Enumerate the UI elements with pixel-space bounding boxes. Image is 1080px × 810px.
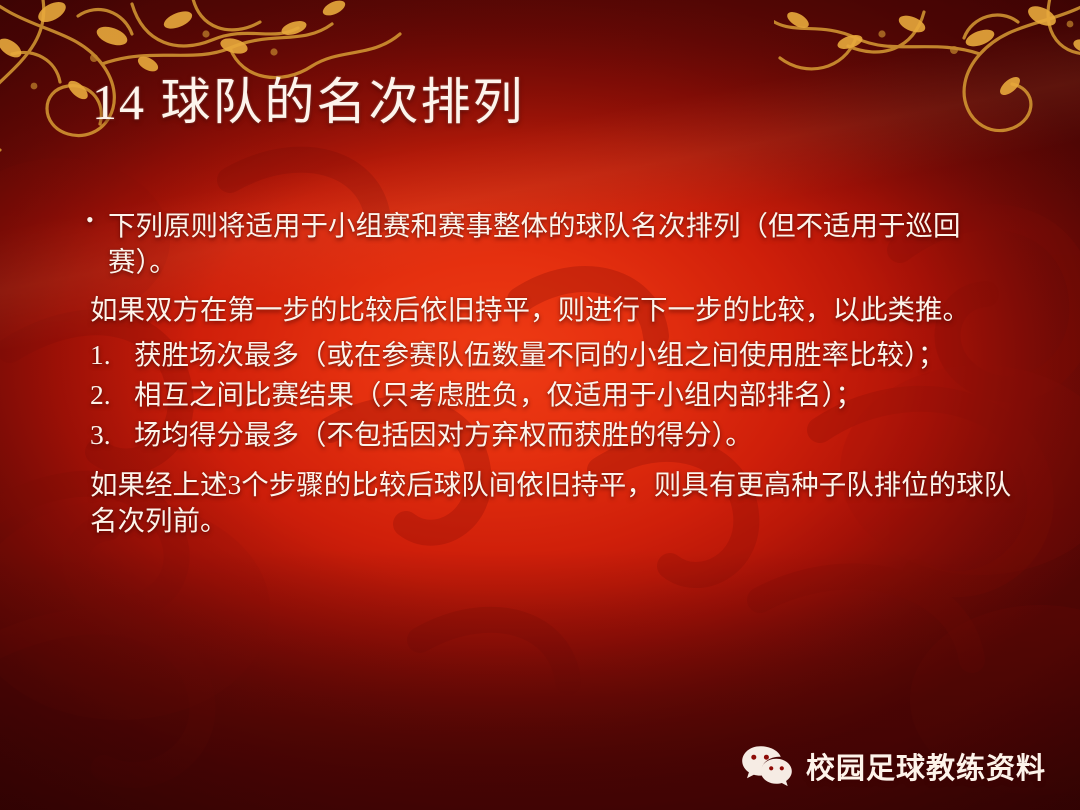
numbered-item-marker: 3. [86, 417, 134, 453]
numbered-item: 1. 获胜场次最多（或在参赛队伍数量不同的小组之间使用胜率比较）； [86, 337, 1012, 373]
paragraph-tiebreak-intro: 如果双方在第一步的比较后依旧持平，则进行下一步的比较，以此类推。 [86, 292, 1012, 328]
bullet-item: 下列原则将适用于小组赛和赛事整体的球队名次排列（但不适用于巡回赛）。 [86, 208, 1012, 280]
presentation-slide: 14 球队的名次排列 下列原则将适用于小组赛和赛事整体的球队名次排列（但不适用于… [0, 0, 1080, 810]
numbered-item-marker: 2. [86, 377, 134, 413]
numbered-item-marker: 1. [86, 337, 134, 373]
numbered-item: 2. 相互之间比赛结果（只考虑胜负，仅适用于小组内部排名）； [86, 377, 1012, 413]
slide-content: 14 球队的名次排列 下列原则将适用于小组赛和赛事整体的球队名次排列（但不适用于… [0, 0, 1080, 810]
wechat-watermark: 校园足球教练资料 [740, 744, 1046, 788]
wechat-icon [740, 744, 794, 788]
numbered-item: 3. 场均得分最多（不包括因对方弃权而获胜的得分）。 [86, 417, 1012, 453]
wechat-account-name: 校园足球教练资料 [806, 745, 1046, 787]
page-title: 14 球队的名次排列 [92, 72, 525, 132]
numbered-item-text: 获胜场次最多（或在参赛队伍数量不同的小组之间使用胜率比较）； [134, 337, 1012, 373]
numbered-item-text: 场均得分最多（不包括因对方弃权而获胜的得分）。 [134, 417, 1012, 453]
bullet-item-text: 下列原则将适用于小组赛和赛事整体的球队名次排列（但不适用于巡回赛）。 [108, 208, 1012, 280]
spacer [86, 457, 1012, 467]
bullet-dot-icon [86, 208, 108, 221]
body-text: 下列原则将适用于小组赛和赛事整体的球队名次排列（但不适用于巡回赛）。 如果双方在… [86, 208, 1012, 542]
paragraph-seed-rank: 如果经上述3个步骤的比较后球队间依旧持平，则具有更高种子队排位的球队名次列前。 [86, 467, 1012, 539]
numbered-item-text: 相互之间比赛结果（只考虑胜负，仅适用于小组内部排名）； [134, 377, 1012, 413]
